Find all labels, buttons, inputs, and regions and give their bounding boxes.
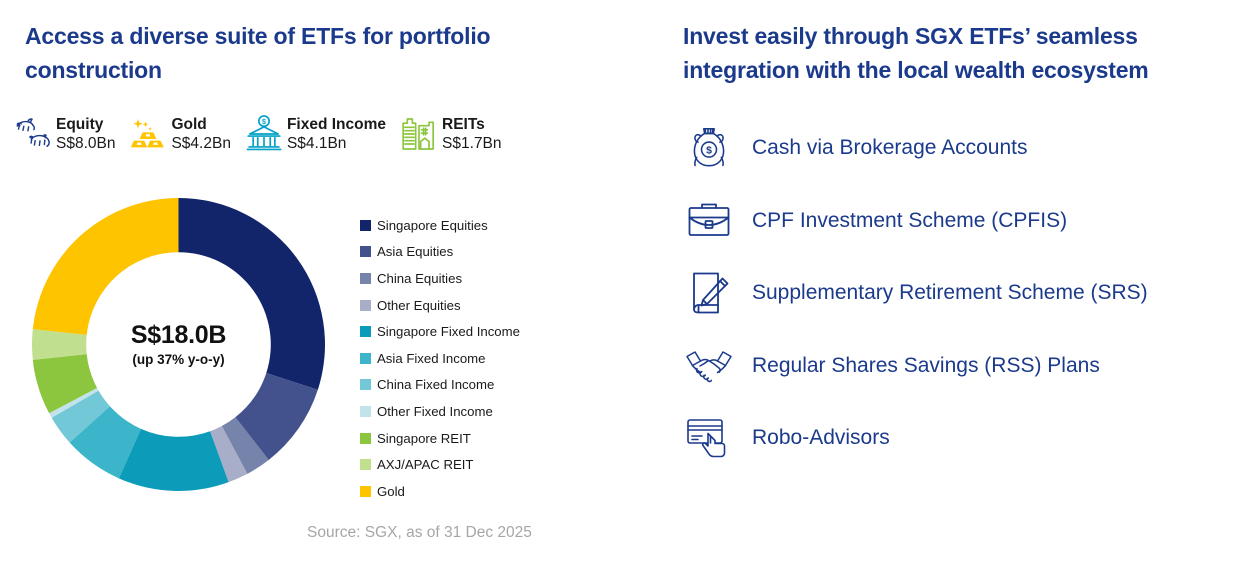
legend-item: China Fixed Income bbox=[360, 372, 590, 399]
donut-slice bbox=[179, 198, 325, 390]
legend-swatch bbox=[360, 273, 371, 284]
right-panel-title: Invest easily through SGX ETFs’ seamless… bbox=[683, 20, 1183, 87]
donut-svg bbox=[32, 198, 325, 491]
legend-item: Other Equities bbox=[360, 292, 590, 319]
handshake-icon bbox=[678, 338, 740, 394]
chart-legend: Singapore EquitiesAsia EquitiesChina Equ… bbox=[360, 212, 590, 505]
legend-swatch bbox=[360, 300, 371, 311]
legend-label: Singapore Fixed Income bbox=[377, 324, 520, 339]
asset-class-gold: Gold S$4.2Bn bbox=[127, 112, 230, 156]
legend-item: Singapore REIT bbox=[360, 425, 590, 452]
legend-swatch bbox=[360, 459, 371, 470]
legend-label: Singapore Equities bbox=[377, 218, 488, 233]
list-item-label: CPF Investment Scheme (CPFIS) bbox=[752, 209, 1067, 233]
legend-swatch bbox=[360, 326, 371, 337]
legend-label: China Fixed Income bbox=[377, 377, 494, 392]
asset-class-name: REITs bbox=[442, 116, 485, 133]
list-item: CPF Investment Scheme (CPFIS) bbox=[678, 185, 1253, 258]
briefcase-icon bbox=[678, 193, 740, 249]
list-item: Robo-Advisors bbox=[678, 402, 1253, 475]
asset-class-row: Equity S$8.0Bn bbox=[12, 112, 632, 164]
gold-bars-icon bbox=[127, 112, 169, 156]
legend-swatch bbox=[360, 433, 371, 444]
asset-class-value: S$4.2Bn bbox=[171, 135, 230, 152]
asset-class-text: Fixed Income S$4.1Bn bbox=[287, 115, 386, 154]
infographic-page: Access a diverse suite of ETFs for portf… bbox=[0, 0, 1259, 561]
legend-item: Gold bbox=[360, 478, 590, 505]
money-bag-icon: $ bbox=[678, 120, 740, 176]
asset-class-text: Gold S$4.2Bn bbox=[171, 115, 230, 154]
legend-label: Other Equities bbox=[377, 298, 461, 313]
page-title: Access a diverse suite of ETFs for portf… bbox=[25, 20, 545, 87]
asset-class-name: Fixed Income bbox=[287, 116, 386, 133]
legend-swatch bbox=[360, 486, 371, 497]
bull-bear-icon bbox=[12, 112, 54, 156]
legend-swatch bbox=[360, 379, 371, 390]
asset-class-fixed-income: $ Fixed Income S$4.1Bn bbox=[243, 112, 386, 156]
asset-class-value: S$8.0Bn bbox=[56, 135, 115, 152]
svg-text:$: $ bbox=[706, 146, 712, 157]
list-item: Regular Shares Savings (RSS) Plans bbox=[678, 330, 1253, 403]
legend-item: China Equities bbox=[360, 265, 590, 292]
list-item: $ Cash via Brokerage Accounts bbox=[678, 112, 1253, 185]
right-panel: Invest easily through SGX ETFs’ seamless… bbox=[660, 0, 1259, 561]
asset-class-reits: REITs S$1.7Bn bbox=[398, 112, 501, 156]
legend-swatch bbox=[360, 353, 371, 364]
document-pencil-icon bbox=[678, 265, 740, 321]
source-note: Source: SGX, as of 31 Dec 2025 bbox=[307, 524, 532, 542]
donut-slices bbox=[32, 198, 325, 491]
list-item-label: Supplementary Retirement Scheme (SRS) bbox=[752, 281, 1148, 305]
left-panel: Access a diverse suite of ETFs for portf… bbox=[0, 0, 660, 561]
legend-label: Asia Equities bbox=[377, 244, 453, 259]
legend-item: Other Fixed Income bbox=[360, 398, 590, 425]
legend-item: Asia Equities bbox=[360, 239, 590, 266]
legend-label: Gold bbox=[377, 484, 405, 499]
donut-slice bbox=[33, 198, 179, 335]
legend-item: Singapore Fixed Income bbox=[360, 318, 590, 345]
list-item-label: Regular Shares Savings (RSS) Plans bbox=[752, 354, 1100, 378]
svg-text:$: $ bbox=[262, 118, 266, 126]
list-item-label: Cash via Brokerage Accounts bbox=[752, 136, 1027, 160]
legend-label: China Equities bbox=[377, 271, 462, 286]
access-channel-list: $ Cash via Brokerage Accounts CPF Inv bbox=[678, 112, 1253, 475]
asset-class-text: REITs S$1.7Bn bbox=[442, 115, 501, 154]
list-item-label: Robo-Advisors bbox=[752, 426, 890, 450]
legend-label: Other Fixed Income bbox=[377, 404, 493, 419]
asset-class-value: S$1.7Bn bbox=[442, 135, 501, 152]
asset-class-name: Gold bbox=[171, 116, 206, 133]
legend-item: Singapore Equities bbox=[360, 212, 590, 239]
legend-swatch bbox=[360, 220, 371, 231]
legend-swatch bbox=[360, 246, 371, 257]
legend-item: AXJ/APAC REIT bbox=[360, 451, 590, 478]
asset-class-name: Equity bbox=[56, 116, 103, 133]
list-item: Supplementary Retirement Scheme (SRS) bbox=[678, 257, 1253, 330]
legend-swatch bbox=[360, 406, 371, 417]
buildings-icon bbox=[398, 112, 440, 156]
legend-label: Singapore REIT bbox=[377, 431, 471, 446]
card-hand-icon bbox=[678, 410, 740, 466]
asset-class-equity: Equity S$8.0Bn bbox=[12, 112, 115, 156]
asset-class-text: Equity S$8.0Bn bbox=[56, 115, 115, 154]
bank-icon: $ bbox=[243, 112, 285, 156]
legend-label: Asia Fixed Income bbox=[377, 351, 485, 366]
legend-item: Asia Fixed Income bbox=[360, 345, 590, 372]
etf-aum-donut-chart: S$18.0B (up 37% y-o-y) bbox=[32, 198, 325, 491]
legend-label: AXJ/APAC REIT bbox=[377, 457, 473, 472]
asset-class-value: S$4.1Bn bbox=[287, 135, 346, 152]
